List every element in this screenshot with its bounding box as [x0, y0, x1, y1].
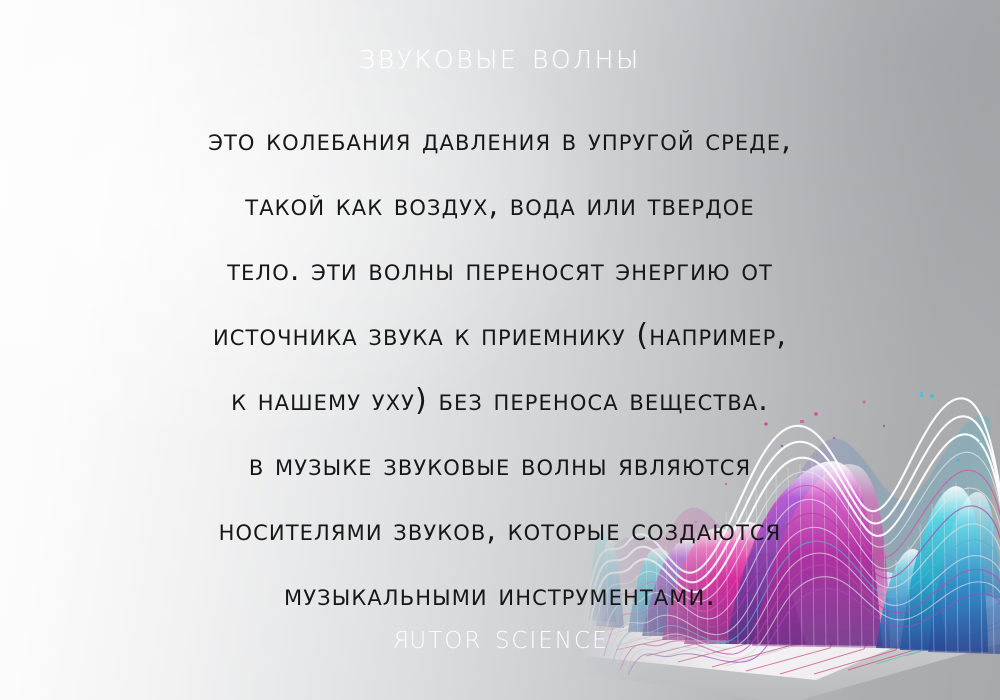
- body-line-1: это колебания давления в упругой среде,: [0, 108, 1000, 173]
- body-line-2: такой как воздух, вода или твердое: [0, 173, 1000, 238]
- page-title: Звуковые волны: [0, 40, 1000, 75]
- watermark: RuToR Science: [0, 620, 1000, 653]
- body-line-7: носителями звуков, которые создаются: [0, 498, 1000, 563]
- body-line-4: источника звука к приемнику (например,: [0, 303, 1000, 368]
- body-line-5: к нашему уху) без переноса вещества.: [0, 368, 1000, 433]
- watermark-mirrored-letter: R: [391, 620, 409, 653]
- body-line-3: тело. Эти волны переносят энергию от: [0, 238, 1000, 303]
- infographic-card: Звуковые волны это колебания давления в …: [0, 0, 1000, 700]
- body-text: это колебания давления в упругой среде, …: [0, 108, 1000, 628]
- watermark-rest: uToR Science: [409, 617, 608, 656]
- body-line-6: В музыке звуковые волны являются: [0, 433, 1000, 498]
